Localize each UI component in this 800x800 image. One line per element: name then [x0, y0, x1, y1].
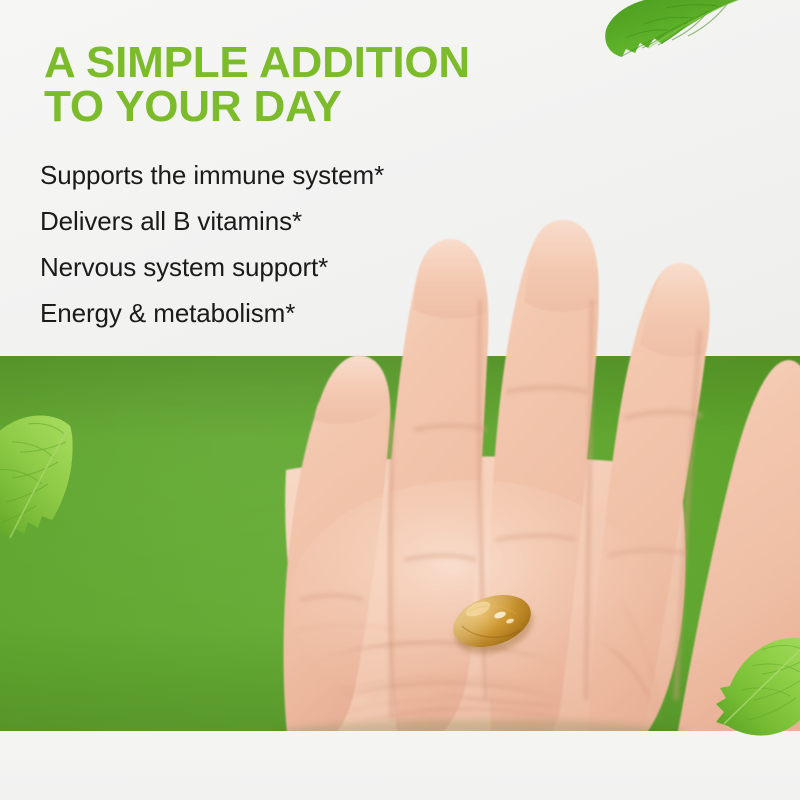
softgel-capsule — [444, 584, 540, 658]
product-benefits-banner: A SIMPLE ADDITION TO YOUR DAY Supports t… — [0, 0, 800, 800]
bottom-background-strip — [0, 731, 800, 800]
mint-leaf-icon — [716, 636, 800, 740]
green-background-panel — [0, 356, 800, 731]
list-item: Energy & metabolism* — [40, 290, 510, 336]
list-item: Supports the immune system* — [40, 152, 510, 198]
list-item: Delivers all B vitamins* — [40, 198, 510, 244]
benefits-list: Supports the immune system* Delivers all… — [40, 152, 510, 336]
mint-leaf-icon — [596, 0, 752, 70]
mint-leaf-icon — [0, 408, 74, 550]
page-title: A SIMPLE ADDITION TO YOUR DAY — [44, 41, 564, 129]
list-item: Nervous system support* — [40, 244, 510, 290]
